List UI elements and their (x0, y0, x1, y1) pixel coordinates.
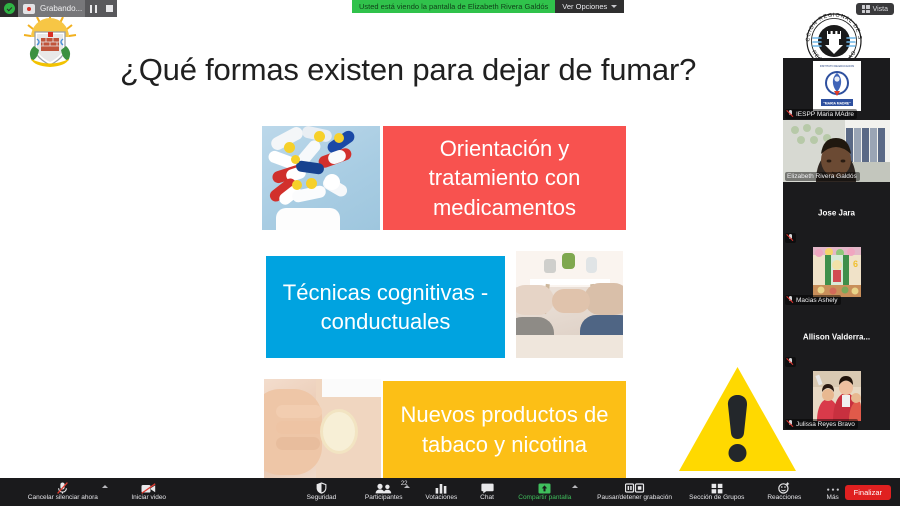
svg-text:"MARIA MADRE": "MARIA MADRE" (823, 101, 851, 105)
participants-button[interactable]: 22 Participantes (360, 478, 408, 506)
view-options-label: Ver Opciones (562, 2, 607, 11)
view-button-label: Vista (873, 6, 888, 13)
participant-name: Julissa Reyes Bravo (796, 421, 855, 428)
more-button[interactable]: Más (821, 478, 845, 506)
participant-tile[interactable]: INSTITUTO DE EDUCACION "MARIA MADRE" IES… (783, 58, 890, 120)
participant-name-chip: IESPP Maria MAdre (785, 109, 857, 119)
mic-muted-icon (787, 110, 793, 118)
participant-name-chip: Macias Ashely (785, 295, 841, 305)
participant-name-chip: Elizabeth Rivera Galdós (785, 172, 860, 181)
block-nuevos-productos: Nuevos productos de tabaco y nicotina (383, 381, 626, 478)
pause-icon (90, 5, 97, 13)
video-off-icon (141, 483, 156, 494)
share-screen-button-label: Compartir pantalla (518, 495, 571, 502)
view-button[interactable]: Vista (856, 3, 894, 15)
pause-recording-button[interactable] (85, 0, 101, 17)
mic-muted-icon (787, 296, 793, 304)
more-ellipsis-icon (826, 483, 840, 494)
mic-muted-icon (787, 420, 793, 428)
participant-tile[interactable]: Julissa Reyes Bravo (783, 368, 890, 430)
screen-share-banner: Usted está viendo la pantalla de Elizabe… (352, 0, 624, 13)
pills-photo (262, 126, 380, 230)
participant-name: Jose Jara (783, 209, 890, 218)
security-button-label: Seguridad (307, 495, 337, 502)
recording-status-label: Grabando... (40, 4, 82, 13)
block-tecnicas: Técnicas cognitivas - conductuales (266, 256, 505, 358)
participant-tile[interactable]: Allison Valderra... (783, 306, 890, 368)
participant-tile[interactable]: 6 Macias Ashely (783, 244, 890, 306)
participant-avatar (813, 371, 861, 421)
zoom-meeting-window: DIRECCION REGIONAL DE SALUD REGION CALLA… (0, 0, 900, 506)
mic-muted-icon (787, 234, 793, 242)
breakout-rooms-button[interactable]: Sección de Grupos (684, 478, 749, 506)
participant-name: Elizabeth Rivera Galdós (787, 173, 857, 180)
participant-name: Macias Ashely (796, 297, 838, 304)
chevron-up-icon[interactable] (572, 485, 578, 488)
participant-avatar: INSTITUTO DE EDUCACION "MARIA MADRE" (813, 61, 861, 111)
reactions-button-label: Reacciones (767, 495, 801, 502)
chevron-up-icon[interactable] (102, 485, 108, 488)
warning-triangle-icon (676, 363, 799, 477)
chat-button-label: Chat (480, 495, 494, 502)
svg-text:6: 6 (853, 259, 858, 269)
start-video-button[interactable]: Iniciar video (121, 478, 176, 506)
share-screen-icon (538, 483, 551, 494)
participant-tile-active[interactable]: Elizabeth Rivera Galdós (783, 120, 890, 182)
participant-name-chip (785, 233, 796, 243)
recording-status: Grabando... (18, 0, 85, 17)
screen-share-message: Usted está viendo la pantalla de Elizabe… (352, 0, 555, 13)
reactions-icon (778, 483, 790, 494)
participant-name-chip: Julissa Reyes Bravo (785, 419, 858, 429)
security-check-icon (0, 0, 18, 17)
block-orientacion: Orientación y tratamiento con medicament… (383, 126, 626, 230)
start-video-button-label: Iniciar video (131, 495, 166, 502)
shield-icon (316, 483, 327, 494)
record-camera-icon (23, 4, 35, 14)
more-button-label: Más (827, 495, 839, 502)
participant-avatar: 6 (813, 247, 861, 297)
mute-button[interactable]: Cancelar silenciar ahora (16, 478, 110, 506)
security-button[interactable]: Seguridad (302, 478, 342, 506)
participant-name: IESPP Maria MAdre (796, 111, 854, 118)
escudo-callao-logo (19, 12, 81, 70)
grid-view-icon (862, 5, 870, 13)
chevron-up-icon[interactable] (404, 485, 410, 488)
recording-indicator[interactable]: Grabando... (0, 0, 117, 17)
participant-name: Allison Valderra... (783, 333, 890, 342)
breakout-rooms-icon (711, 483, 723, 494)
polls-button-label: Votaciones (425, 495, 457, 502)
slide-title: ¿Qué formas existen para dejar de fumar? (120, 52, 800, 88)
participants-icon (375, 483, 393, 494)
view-options-button[interactable]: Ver Opciones (555, 0, 624, 13)
chevron-down-icon (611, 5, 617, 8)
end-meeting-button[interactable]: Finalizar (845, 485, 891, 500)
stop-icon (106, 5, 113, 12)
participant-name-chip (785, 357, 796, 367)
chat-icon (481, 483, 494, 494)
polls-button[interactable]: Votaciones (420, 478, 462, 506)
participants-button-label: Participantes (365, 495, 403, 502)
reactions-button[interactable]: Reacciones (762, 478, 806, 506)
breakout-rooms-button-label: Sección de Grupos (689, 495, 744, 502)
mute-button-label: Cancelar silenciar ahora (28, 495, 98, 502)
handshake-photo (516, 251, 623, 358)
participant-tile[interactable]: Jose Jara (783, 182, 890, 244)
mic-muted-icon (787, 358, 793, 366)
chat-button[interactable]: Chat (475, 478, 499, 506)
meeting-toolbar: Cancelar silenciar ahora Iniciar video (0, 478, 900, 506)
nicotine-patch-photo (264, 379, 381, 478)
pause-stop-recording-label: Pausar/detener grabación (597, 495, 672, 502)
poll-icon (435, 483, 447, 494)
shared-screen-content: DIRECCION REGIONAL DE SALUD REGION CALLA… (0, 0, 900, 478)
mic-muted-icon (57, 483, 68, 494)
pause-stop-icon (625, 483, 645, 494)
share-screen-button[interactable]: Compartir pantalla (513, 478, 576, 506)
pause-stop-recording-button[interactable]: Pausar/detener grabación (592, 478, 677, 506)
svg-text:INSTITUTO DE EDUCACION: INSTITUTO DE EDUCACION (819, 64, 853, 68)
participants-filmstrip[interactable]: INSTITUTO DE EDUCACION "MARIA MADRE" IES… (783, 58, 890, 430)
stop-recording-button[interactable] (101, 0, 117, 17)
